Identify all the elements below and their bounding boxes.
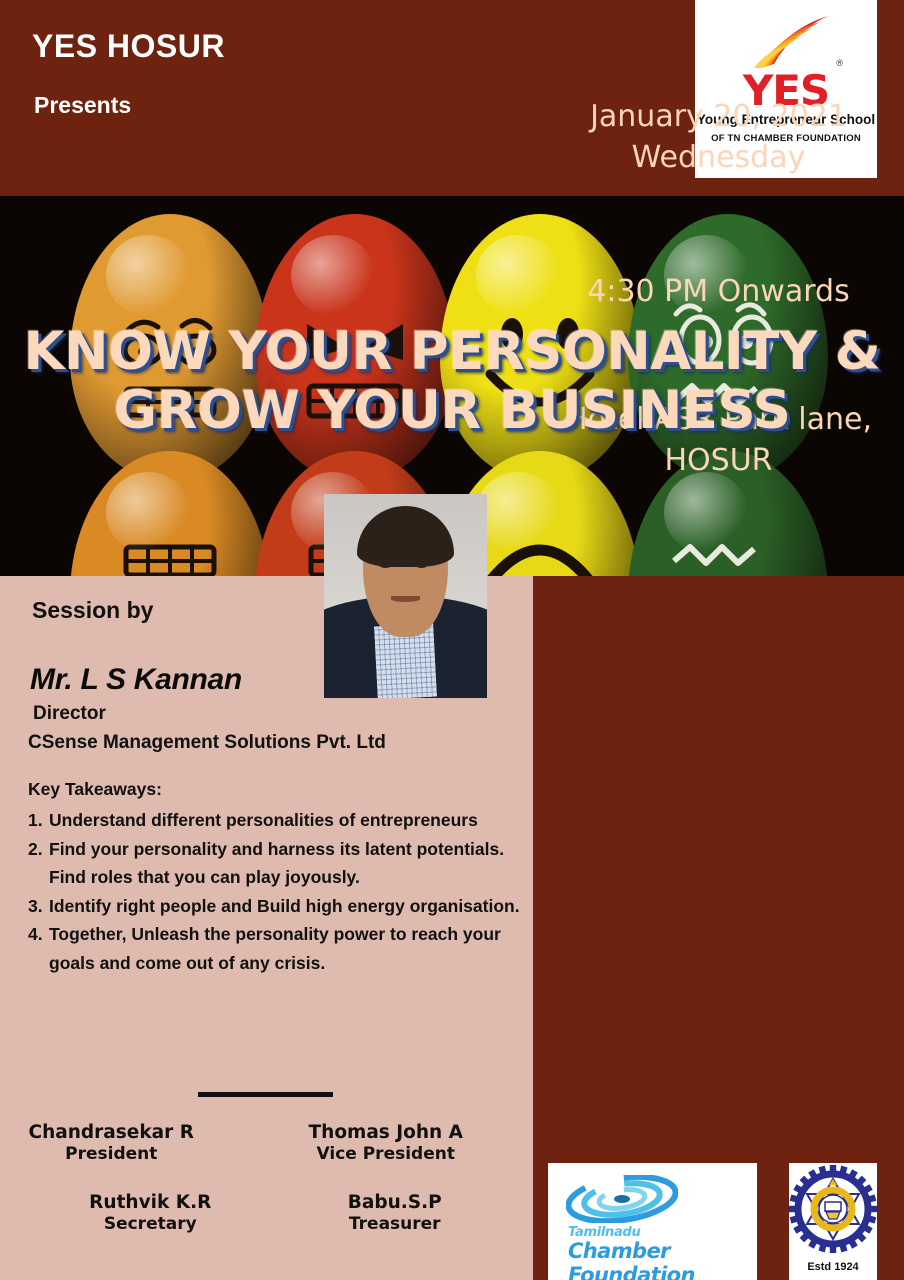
event-date: January 20, 2021 Wednesday [533,97,904,178]
yes-swoosh-icon [736,14,836,70]
official-name: Babu.S.P [267,1192,524,1213]
official-title: Treasurer [267,1214,524,1234]
official-title: Secretary [34,1214,267,1234]
speaker-photo [324,494,487,698]
takeaway-text: Understand different personalities of en… [49,806,528,835]
official-title: Vice President [267,1144,506,1164]
takeaway-number: 4. [28,920,49,949]
speaker-role: Director [33,703,106,725]
chamber-line2: Chamber Foundation [568,1239,757,1280]
takeaway-item: 2.Find your personality and harness its … [28,835,528,892]
speaker-eye-right [415,561,428,568]
officials-list: Chandrasekar RPresidentThomas John AVice… [0,1122,533,1234]
organiser-name: YES HOSUR [32,28,225,65]
registered-mark-icon: ® [836,58,843,68]
takeaway-item: 3.Identify right people and Build high e… [28,892,528,921]
official-title: President [0,1144,223,1164]
takeaways-heading: Key Takeaways: [28,779,162,800]
takeaways-list: 1.Understand different personalities of … [28,806,528,977]
chamber-seal-logo: Estd 1924 [789,1163,877,1280]
swirl-icon [566,1175,678,1223]
tamilnadu-chamber-foundation-logo: Tamilnadu Chamber Foundation [548,1163,757,1280]
speaker-name: Mr. L S Kannan [30,663,242,697]
speaker-brow-right [412,552,430,557]
section-divider [198,1092,333,1097]
seal-estd-label: Estd 1924 [789,1261,877,1273]
takeaway-number: 1. [28,806,49,835]
gear-star-seal-icon [789,1163,877,1259]
takeaway-item: 4.Together, Unleash the personality powe… [28,920,528,977]
takeaway-number: 2. [28,835,49,864]
poster-title: KNOW YOUR PERSONALITY & GROW YOUR BUSINE… [0,322,904,441]
official-name: Ruthvik K.R [34,1192,267,1213]
takeaway-text: Together, Unleash the personality power … [49,920,528,977]
chamber-line1: Tamilnadu [568,1225,640,1240]
presents-label: Presents [34,92,131,119]
speaker-brow-left [376,552,394,557]
takeaway-text: Find your personality and harness its la… [49,835,528,892]
event-poster: YES HOSUR Presents YES ® Young Entrepren… [0,0,904,1280]
takeaway-text: Identify right people and Build high ene… [49,892,528,921]
event-time: 4:30 PM Onwards [533,272,904,313]
takeaway-number: 3. [28,892,49,921]
official-entry: Thomas John AVice President [267,1122,534,1164]
takeaway-item: 1.Understand different personalities of … [28,806,528,835]
official-entry: Babu.S.PTreasurer [267,1192,534,1234]
session-by-label: Session by [32,597,153,624]
official-name: Chandrasekar R [0,1122,223,1143]
stress-ball-grimace [70,451,270,576]
speaker-organisation: CSense Management Solutions Pvt. Ltd [28,732,386,754]
speaker-eye-left [379,561,392,568]
official-entry: Chandrasekar RPresident [0,1122,267,1164]
official-name: Thomas John A [267,1122,506,1143]
official-entry: Ruthvik K.RSecretary [0,1192,267,1234]
